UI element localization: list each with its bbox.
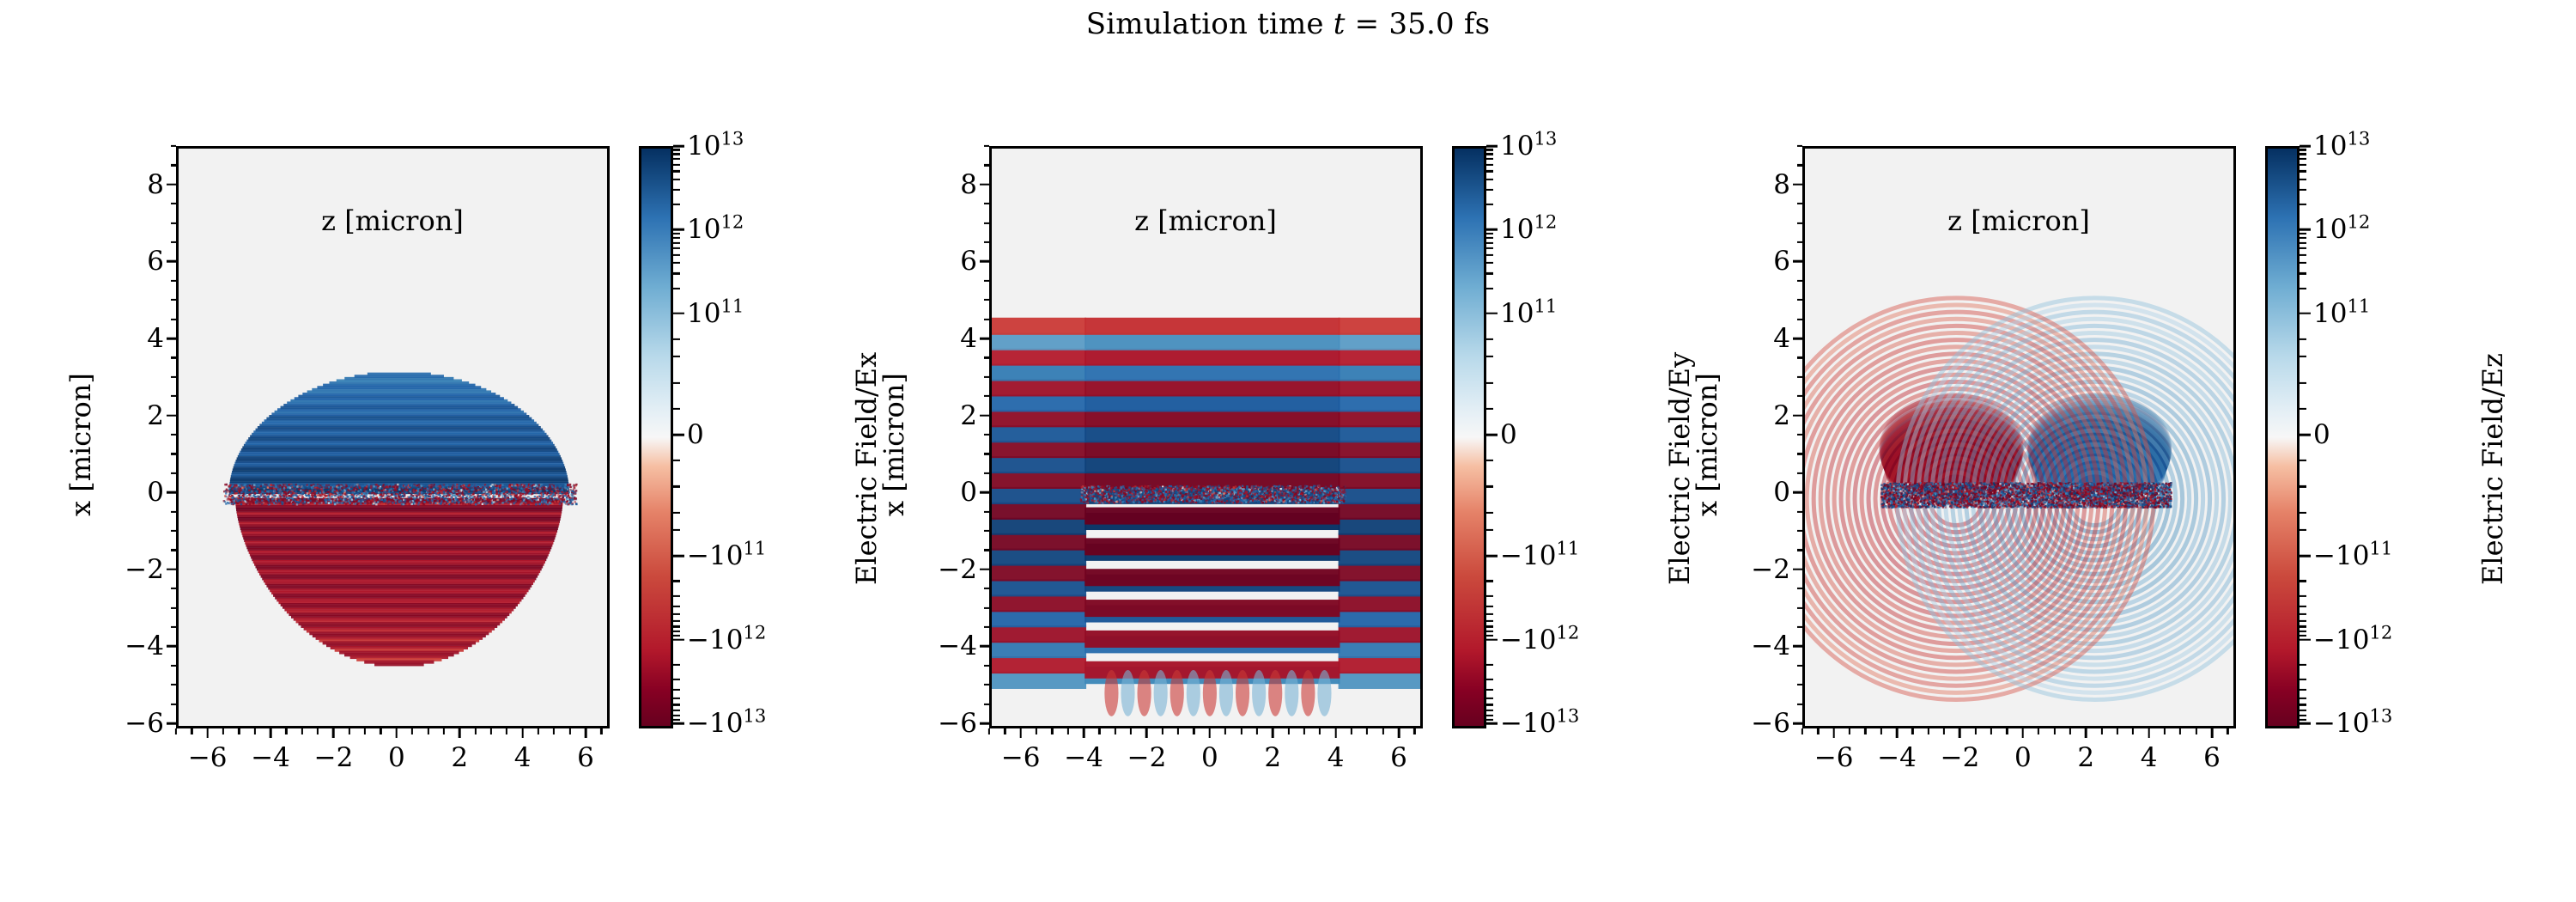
y-minor-tick (1797, 203, 1803, 204)
x-minor-tick (1928, 728, 1929, 734)
x-minor-tick (1849, 728, 1850, 734)
y-tickmark (980, 645, 989, 648)
y-minor-tick (1797, 164, 1803, 166)
y-tick-label: −6 (936, 708, 977, 739)
colorbar-tick-label: −1011 (2313, 540, 2392, 571)
x-minor-tick (301, 728, 303, 734)
x-minor-tick (1990, 728, 1992, 734)
colorbar-minor-tick (2300, 710, 2306, 711)
x-axis-label: z [micron] (1134, 204, 1277, 237)
colorbar-minor-tick (2300, 704, 2306, 705)
y-tick-label: 4 (123, 323, 164, 354)
y-minor-tick (984, 684, 990, 686)
x-tickmark (585, 728, 587, 738)
figure-title: Simulation time t = 35.0 fs (0, 7, 2576, 41)
colorbar-ez (2265, 146, 2300, 728)
y-minor-tick (1797, 549, 1803, 551)
colorbar-minor-tick (1486, 664, 1493, 666)
colorbar-tickmark (1486, 229, 1498, 231)
colorbar-minor-tick (1486, 247, 1493, 249)
x-tick-label: 6 (2203, 742, 2221, 773)
y-tick-label: −4 (1749, 631, 1790, 661)
colorbar-tickmark (2300, 722, 2311, 725)
colorbar-minor-tick (673, 233, 680, 235)
colorbar-minor-tick (1486, 485, 1493, 487)
x-tick-label: −2 (314, 742, 354, 773)
y-tickmark (980, 338, 989, 340)
colorbar-tickmark (1486, 313, 1498, 315)
x-minor-tick (364, 728, 366, 734)
colorbar-minor-tick (673, 408, 680, 410)
colorbar-minor-tick (2300, 664, 2306, 666)
colorbar-label: Electric Field/Ez (2476, 353, 2509, 585)
colorbar-minor-tick (673, 381, 680, 383)
colorbar-minor-tick (2300, 529, 2306, 531)
x-minor-tick (2053, 728, 2055, 734)
colorbar-minor-tick (2300, 635, 2306, 637)
y-tick-label: 2 (123, 400, 164, 431)
x-minor-tick (1130, 728, 1132, 734)
x-tick-label: 0 (2014, 742, 2032, 773)
colorbar-minor-tick (2300, 679, 2306, 680)
y-tickmark (1793, 645, 1802, 648)
colorbar-minor-tick (2300, 237, 2306, 239)
x-tickmark (2022, 728, 2025, 738)
y-minor-tick (171, 453, 177, 454)
y-minor-tick (984, 222, 990, 224)
colorbar-minor-tick (673, 241, 680, 243)
x-minor-tick (569, 728, 571, 734)
colorbar-minor-tick (1486, 529, 1493, 531)
x-minor-tick (1115, 728, 1116, 734)
colorbar-minor-tick (673, 625, 680, 627)
colorbar-minor-tick (673, 485, 680, 487)
x-minor-tick (1801, 728, 1803, 734)
x-minor-tick (1351, 728, 1352, 734)
colorbar-minor-tick (2300, 287, 2306, 289)
x-minor-tick (1224, 728, 1226, 734)
x-minor-tick (1864, 728, 1866, 734)
colorbar-minor-tick (673, 247, 680, 249)
x-minor-tick (1303, 728, 1305, 734)
x-axis-label: z [micron] (1947, 204, 2090, 237)
colorbar-minor-tick (2300, 170, 2306, 172)
x-axis-label: z [micron] (321, 204, 464, 237)
y-minor-tick (171, 588, 177, 589)
colorbar-tickmark (673, 145, 684, 148)
y-tickmark (1793, 491, 1802, 494)
y-tickmark (167, 414, 176, 417)
colorbar-minor-tick (673, 698, 680, 699)
y-tick-label: 2 (936, 400, 977, 431)
colorbar-minor-tick (2300, 189, 2306, 191)
colorbar-tickmark (1486, 638, 1498, 641)
y-tickmark (980, 184, 989, 186)
x-minor-tick (2196, 728, 2197, 734)
colorbar-tick-label: −1011 (1500, 540, 1579, 571)
colorbar-minor-tick (673, 179, 680, 180)
colorbar-tickmark (1486, 145, 1498, 148)
x-tickmark (1832, 728, 1835, 738)
figure-canvas: Simulation time t = 35.0 fs −6−4−202468−… (0, 0, 2576, 902)
x-minor-tick (2069, 728, 2071, 734)
x-tickmark (396, 728, 398, 738)
x-minor-tick (506, 728, 507, 734)
colorbar-minor-tick (1486, 631, 1493, 632)
y-minor-tick (171, 241, 177, 243)
y-tickmark (1793, 414, 1802, 417)
colorbar-minor-tick (673, 679, 680, 680)
colorbar-minor-tick (673, 153, 680, 155)
colorbar-minor-tick (673, 272, 680, 274)
colorbar-minor-tick (1486, 262, 1493, 264)
y-tick-label: 8 (936, 169, 977, 200)
y-minor-tick (984, 607, 990, 609)
x-tick-label: −6 (1001, 742, 1041, 773)
x-minor-tick (1256, 728, 1258, 734)
x-minor-tick (443, 728, 445, 734)
y-tick-label: 8 (1749, 169, 1790, 200)
colorbar-minor-tick (1486, 718, 1493, 720)
y-minor-tick (171, 626, 177, 628)
x-tickmark (2085, 728, 2087, 738)
colorbar-minor-tick (673, 460, 680, 461)
colorbar-minor-tick (673, 164, 680, 166)
colorbar-minor-tick (673, 254, 680, 256)
colorbar-tick-label: 1011 (1500, 298, 1557, 329)
x-minor-tick (191, 728, 192, 734)
x-tickmark (1145, 728, 1148, 738)
y-tick-label: 0 (1749, 477, 1790, 508)
colorbar-minor-tick (2300, 338, 2306, 340)
x-minor-tick (1880, 728, 1882, 734)
y-minor-tick (171, 222, 177, 224)
y-minor-tick (1797, 395, 1803, 397)
colorbar-minor-tick (673, 704, 680, 705)
y-tick-label: −2 (936, 554, 977, 585)
colorbar-minor-tick (1486, 164, 1493, 166)
y-minor-tick (984, 530, 990, 532)
colorbar-minor-tick (1486, 679, 1493, 680)
colorbar-ey (1452, 146, 1486, 728)
colorbar-minor-tick (1486, 595, 1493, 597)
x-tick-label: −2 (1127, 742, 1167, 773)
y-minor-tick (171, 395, 177, 397)
y-minor-tick (984, 376, 990, 378)
colorbar-tick-label: 1011 (2313, 298, 2370, 329)
title-prefix: Simulation time (1086, 7, 1334, 41)
colorbar-minor-tick (673, 158, 680, 160)
x-minor-tick (538, 728, 539, 734)
x-minor-tick (988, 728, 990, 734)
y-tick-label: −2 (1749, 554, 1790, 585)
colorbar-tick-label: 1013 (687, 131, 744, 162)
y-minor-tick (1797, 434, 1803, 436)
colorbar-minor-tick (1486, 233, 1493, 235)
x-tickmark (1272, 728, 1274, 738)
x-minor-tick (175, 728, 177, 734)
title-rest: = 35.0 fs (1346, 7, 1491, 41)
y-tick-label: −2 (123, 554, 164, 585)
y-minor-tick (984, 299, 990, 301)
colorbar-minor-tick (2300, 164, 2306, 166)
y-axis-label: x [micron] (1691, 373, 1723, 516)
colorbar-minor-tick (2300, 613, 2306, 615)
y-tick-label: 4 (1749, 323, 1790, 354)
x-minor-tick (1287, 728, 1289, 734)
colorbar-minor-tick (2300, 272, 2306, 274)
x-minor-tick (1413, 728, 1415, 734)
colorbar-tick-label: −1012 (2313, 625, 2392, 655)
y-tickmark (167, 569, 176, 571)
y-axis-label: x [micron] (64, 373, 97, 516)
colorbar-tickmark (1486, 722, 1498, 725)
x-minor-tick (2164, 728, 2166, 734)
y-minor-tick (984, 472, 990, 474)
colorbar-tickmark (2300, 145, 2311, 148)
colorbar-minor-tick (2300, 381, 2306, 383)
colorbar-minor-tick (673, 149, 680, 150)
x-minor-tick (1177, 728, 1179, 734)
y-minor-tick (171, 357, 177, 358)
x-tickmark (332, 728, 335, 738)
colorbar-ex (639, 146, 673, 728)
y-tickmark (1793, 569, 1802, 571)
x-tickmark (1959, 728, 1961, 738)
y-minor-tick (984, 549, 990, 551)
colorbar-minor-tick (673, 718, 680, 720)
y-tickmark (980, 722, 989, 725)
colorbar-tickmark (673, 313, 684, 315)
colorbar-tick-label: 1013 (1500, 131, 1557, 162)
x-tick-label: 6 (1390, 742, 1407, 773)
x-tick-label: 4 (2141, 742, 2158, 773)
colorbar-minor-tick (1486, 620, 1493, 622)
x-minor-tick (2006, 728, 2008, 734)
x-tickmark (1334, 728, 1337, 738)
colorbar-minor-tick (673, 287, 680, 289)
y-minor-tick (171, 607, 177, 609)
y-minor-tick (1797, 241, 1803, 243)
y-tickmark (980, 260, 989, 263)
x-minor-tick (427, 728, 428, 734)
x-tickmark (1398, 728, 1400, 738)
x-tick-label: 2 (2077, 742, 2094, 773)
colorbar-tick-label: −1012 (1500, 625, 1579, 655)
x-minor-tick (1036, 728, 1037, 734)
x-tickmark (1896, 728, 1899, 738)
colorbar-minor-tick (673, 529, 680, 531)
colorbar-minor-tick (1486, 710, 1493, 711)
y-minor-tick (984, 704, 990, 705)
colorbar-minor-tick (1486, 179, 1493, 180)
colorbar-minor-tick (2300, 179, 2306, 180)
x-minor-tick (349, 728, 350, 734)
y-minor-tick (984, 626, 990, 628)
colorbar-minor-tick (2300, 408, 2306, 410)
colorbar-minor-tick (1486, 287, 1493, 289)
colorbar-minor-tick (2300, 149, 2306, 150)
y-minor-tick (1797, 684, 1803, 686)
y-minor-tick (984, 395, 990, 397)
colorbar-tick-label: −1013 (2313, 708, 2392, 739)
x-minor-tick (1067, 728, 1069, 734)
colorbar-minor-tick (673, 237, 680, 239)
y-tickmark (1793, 184, 1802, 186)
colorbar-minor-tick (2300, 698, 2306, 699)
y-tickmark (980, 414, 989, 417)
x-minor-tick (380, 728, 381, 734)
colorbar-tick-label: 1012 (1500, 214, 1557, 245)
colorbar-minor-tick (1486, 460, 1493, 461)
x-tick-label: −4 (251, 742, 290, 773)
x-minor-tick (1911, 728, 1913, 734)
colorbar-minor-tick (673, 262, 680, 264)
y-tickmark (167, 260, 176, 263)
y-minor-tick (1797, 626, 1803, 628)
colorbar-tickmark (2300, 555, 2311, 558)
x-minor-tick (2227, 728, 2228, 734)
colorbar-minor-tick (2300, 204, 2306, 205)
x-minor-tick (553, 728, 555, 734)
y-tick-label: −6 (1749, 708, 1790, 739)
y-minor-tick (1797, 665, 1803, 667)
colorbar-minor-tick (2300, 254, 2306, 256)
y-minor-tick (984, 145, 990, 147)
y-minor-tick (1797, 145, 1803, 147)
x-tick-label: 4 (1327, 742, 1345, 773)
colorbar-minor-tick (2300, 512, 2306, 514)
x-tickmark (2148, 728, 2150, 738)
colorbar-tickmark (1486, 555, 1498, 558)
colorbar-minor-tick (673, 714, 680, 716)
colorbar-tickmark (673, 434, 684, 436)
colorbar-minor-tick (1486, 189, 1493, 191)
colorbar-minor-tick (2300, 158, 2306, 160)
y-minor-tick (984, 241, 990, 243)
colorbar-minor-tick (2300, 485, 2306, 487)
y-minor-tick (984, 453, 990, 454)
y-minor-tick (171, 299, 177, 301)
y-minor-tick (1797, 357, 1803, 358)
x-minor-tick (254, 728, 256, 734)
y-tickmark (980, 569, 989, 571)
colorbar-tickmark (1486, 434, 1498, 436)
x-tick-label: 2 (451, 742, 468, 773)
x-tickmark (1083, 728, 1085, 738)
y-minor-tick (1797, 588, 1803, 589)
colorbar-minor-tick (1486, 704, 1493, 705)
y-tickmark (1793, 338, 1802, 340)
colorbar-minor-tick (673, 170, 680, 172)
y-minor-tick (1797, 472, 1803, 474)
y-tickmark (167, 722, 176, 725)
x-minor-tick (1319, 728, 1321, 734)
colorbar-minor-tick (1486, 356, 1493, 357)
y-tickmark (1793, 260, 1802, 263)
y-tick-label: 8 (123, 169, 164, 200)
y-minor-tick (171, 665, 177, 667)
x-minor-tick (1051, 728, 1053, 734)
colorbar-minor-tick (1486, 204, 1493, 205)
colorbar-minor-tick (1486, 149, 1493, 150)
y-tickmark (1793, 722, 1802, 725)
y-minor-tick (1797, 607, 1803, 609)
x-minor-tick (490, 728, 492, 734)
colorbar-minor-tick (2300, 718, 2306, 720)
colorbar-minor-tick (1486, 580, 1493, 582)
y-minor-tick (171, 376, 177, 378)
colorbar-minor-tick (673, 664, 680, 666)
x-tickmark (1209, 728, 1212, 738)
x-tickmark (2211, 728, 2214, 738)
colorbar-tickmark (673, 229, 684, 231)
y-tick-label: −4 (123, 631, 164, 661)
colorbar-minor-tick (1486, 158, 1493, 160)
y-minor-tick (171, 203, 177, 204)
y-minor-tick (984, 357, 990, 358)
colorbar-minor-tick (673, 512, 680, 514)
y-minor-tick (171, 164, 177, 166)
colorbar-minor-tick (673, 595, 680, 597)
colorbar-minor-tick (2300, 241, 2306, 243)
x-tick-label: −4 (1877, 742, 1917, 773)
colorbar-minor-tick (673, 613, 680, 615)
colorbar-tick-label: −1013 (1500, 708, 1579, 739)
y-tick-label: 2 (1749, 400, 1790, 431)
x-tickmark (459, 728, 461, 738)
x-tickmark (206, 728, 209, 738)
colorbar-tick-label: 0 (2313, 419, 2330, 450)
x-minor-tick (1004, 728, 1005, 734)
colorbar-minor-tick (1486, 254, 1493, 256)
colorbar-minor-tick (2300, 153, 2306, 155)
x-tick-label: 4 (514, 742, 532, 773)
y-tick-label: 6 (1749, 246, 1790, 277)
y-axis-label: x [micron] (878, 373, 910, 516)
y-minor-tick (984, 511, 990, 513)
colorbar-minor-tick (1486, 625, 1493, 627)
colorbar-tick-label: −1012 (687, 625, 766, 655)
colorbar-tickmark (2300, 638, 2311, 641)
x-minor-tick (285, 728, 287, 734)
colorbar-minor-tick (1486, 338, 1493, 340)
y-tickmark (167, 645, 176, 648)
y-minor-tick (1797, 319, 1803, 320)
colorbar-tick-label: −1011 (687, 540, 766, 571)
y-minor-tick (171, 684, 177, 686)
y-tick-label: −4 (936, 631, 977, 661)
colorbar-minor-tick (2300, 233, 2306, 235)
y-tick-label: 6 (123, 246, 164, 277)
colorbar-minor-tick (2300, 262, 2306, 264)
colorbar-minor-tick (2300, 356, 2306, 357)
y-tickmark (167, 338, 176, 340)
x-tick-label: −6 (1814, 742, 1854, 773)
x-minor-tick (2038, 728, 2039, 734)
y-minor-tick (171, 530, 177, 532)
colorbar-minor-tick (2300, 460, 2306, 461)
y-minor-tick (984, 434, 990, 436)
x-minor-tick (1943, 728, 1945, 734)
x-minor-tick (1975, 728, 1977, 734)
x-minor-tick (317, 728, 319, 734)
y-tick-label: 0 (936, 477, 977, 508)
colorbar-tickmark (673, 555, 684, 558)
y-minor-tick (1797, 530, 1803, 532)
colorbar-minor-tick (2300, 689, 2306, 691)
y-minor-tick (984, 588, 990, 589)
